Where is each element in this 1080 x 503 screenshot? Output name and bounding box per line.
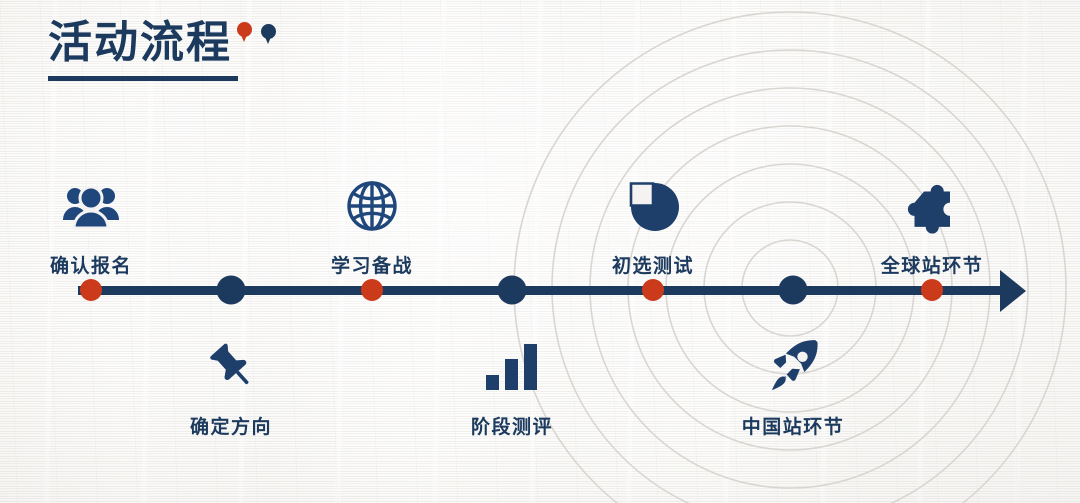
milestone-1-label: 确认报名 bbox=[0, 251, 191, 278]
timeline-node-dot-3[interactable] bbox=[361, 279, 383, 301]
milestone-7-label: 全球站环节 bbox=[832, 251, 1032, 278]
globe-icon bbox=[272, 175, 472, 237]
milestone-5-label: 初选测试 bbox=[553, 251, 753, 278]
timeline: 确认报名 确定方向 bbox=[0, 0, 1080, 503]
timeline-node-dot-4[interactable] bbox=[498, 276, 527, 305]
milestone-4[interactable]: 阶段测评 bbox=[412, 336, 612, 439]
milestone-3[interactable]: 学习备战 bbox=[272, 175, 472, 278]
timeline-node-dot-1[interactable] bbox=[80, 279, 102, 301]
people-group-icon bbox=[0, 175, 191, 237]
timeline-node-dot-2[interactable] bbox=[217, 276, 246, 305]
puzzle-piece-icon bbox=[832, 175, 1032, 237]
rocket-icon bbox=[693, 336, 893, 398]
timeline-node-dot-5[interactable] bbox=[642, 279, 664, 301]
milestone-4-label: 阶段测评 bbox=[412, 412, 612, 439]
slide-canvas: 活动流程 确认报名 bbox=[0, 0, 1080, 503]
milestone-6-label: 中国站环节 bbox=[693, 412, 893, 439]
milestone-5[interactable]: 初选测试 bbox=[553, 175, 753, 278]
milestone-3-label: 学习备战 bbox=[272, 251, 472, 278]
timeline-node-dot-6[interactable] bbox=[779, 276, 808, 305]
milestone-2-label: 确定方向 bbox=[131, 412, 331, 439]
timeline-node-dot-7[interactable] bbox=[921, 279, 943, 301]
pie-chart-icon bbox=[553, 175, 753, 237]
bar-chart-icon bbox=[412, 336, 612, 398]
milestone-6[interactable]: 中国站环节 bbox=[693, 336, 893, 439]
milestone-7[interactable]: 全球站环节 bbox=[832, 175, 1032, 278]
pushpin-icon bbox=[131, 336, 331, 398]
milestone-1[interactable]: 确认报名 bbox=[0, 175, 191, 278]
milestone-2[interactable]: 确定方向 bbox=[131, 336, 331, 439]
